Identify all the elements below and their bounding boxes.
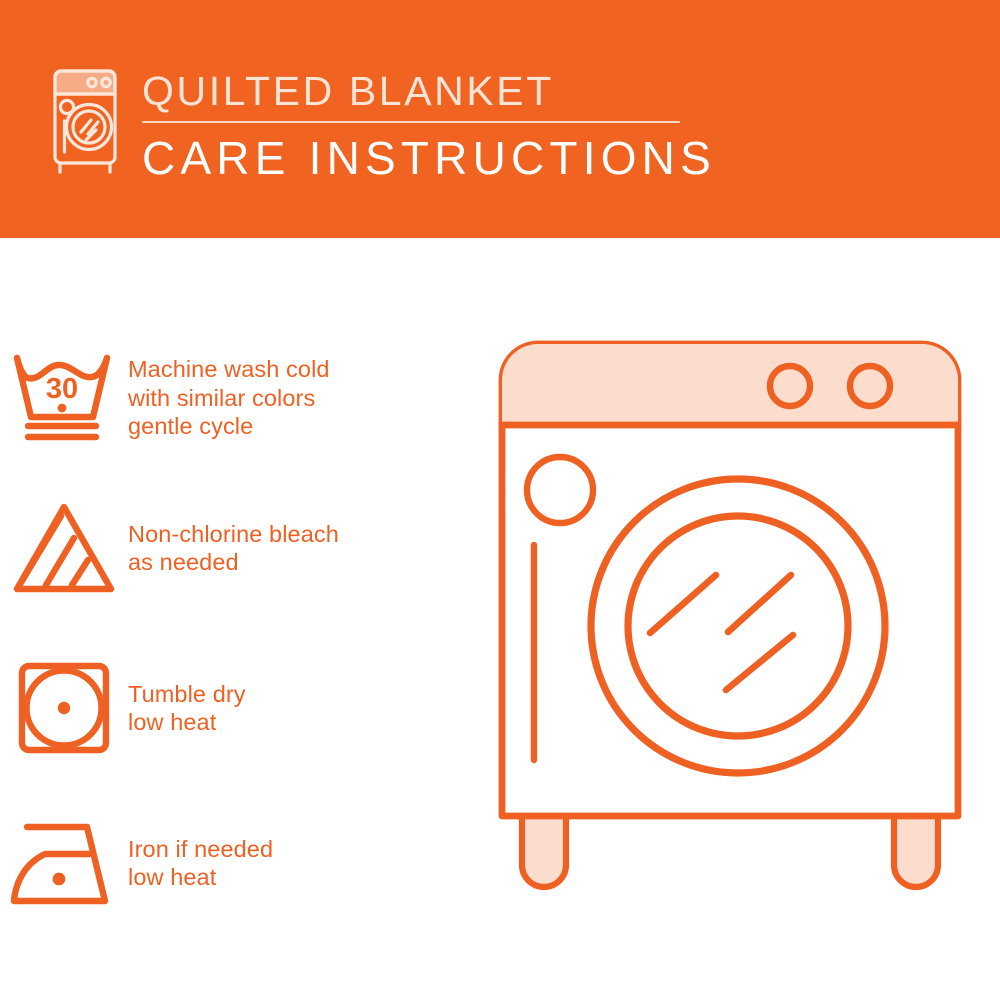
care-row-tumble-dry: Tumble dry low heat [0,648,480,768]
care-row-bleach: Non-chlorine bleach as needed [0,488,480,608]
care-label-iron: Iron if needed low heat [128,835,480,892]
care-label-tumble-dry: Tumble dry low heat [128,680,480,737]
washing-machine-icon [44,68,118,178]
non-chlorine-bleach-triangle-icon [0,502,128,594]
care-label-machine-wash: Machine wash cold with similar colors ge… [128,355,480,441]
wash-temperature-label: 30 [46,373,78,405]
care-instructions-infographic: QUILTED BLANKET CARE INSTRUCTIONS 30 [0,0,1000,1000]
front-load-washing-machine-illustration [488,330,972,930]
care-label-bleach: Non-chlorine bleach as needed [128,520,480,577]
title-divider [142,121,680,123]
wash-tub-30-icon: 30 [0,350,128,446]
header-title-block: QUILTED BLANKET CARE INSTRUCTIONS [142,66,782,185]
header-banner: QUILTED BLANKET CARE INSTRUCTIONS [0,0,1000,238]
care-row-machine-wash: 30 Machine wash cold with similar colors… [0,338,480,458]
tumble-dry-low-heat-icon [0,661,128,755]
page-title-primary: QUILTED BLANKET [142,66,782,116]
care-row-iron: Iron if needed low heat [0,803,480,923]
page-title-secondary: CARE INSTRUCTIONS [142,131,782,185]
iron-low-heat-icon [0,820,128,906]
care-instruction-list: 30 Machine wash cold with similar colors… [0,238,480,1000]
